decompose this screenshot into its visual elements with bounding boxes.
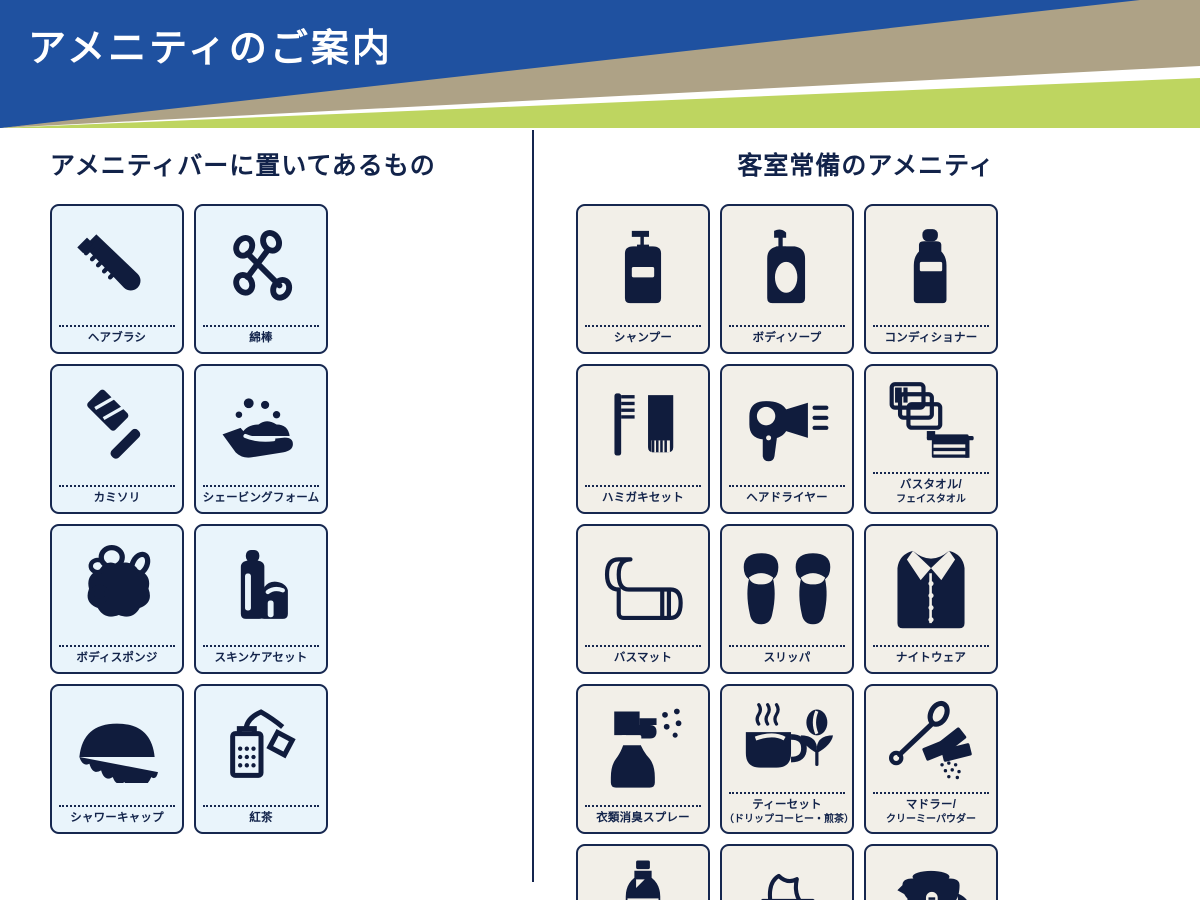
amenity-card-label: カミソリ xyxy=(52,487,182,512)
header-banner: アメニティのご案内 xyxy=(0,0,1200,128)
amenity-card: ヘアブラシ xyxy=(50,204,184,354)
amenity-card: シェービングフォーム xyxy=(194,364,328,514)
amenity-card: ティッシュ xyxy=(720,844,854,900)
page-title: アメニティのご案内 xyxy=(28,26,393,74)
amenity-card: マドラー/クリーミーパウダー xyxy=(864,684,998,834)
skincare-set-icon xyxy=(196,526,326,645)
electric-kettle-icon xyxy=(866,846,996,900)
in-room-amenity-panel: 客室常備のアメニティ シャンプー ボディソープ コンディショナー ハミガキセット… xyxy=(556,146,1176,900)
amenity-card: スリッパ xyxy=(720,524,854,674)
conditioner-bottle-icon xyxy=(866,206,996,325)
amenity-card: 電気式湯沸し器 xyxy=(864,844,998,900)
towels-icon xyxy=(866,366,996,472)
body-soap-bottle-icon xyxy=(722,206,852,325)
amenity-card-label: ボディスポンジ xyxy=(52,647,182,672)
tea-coffee-set-icon xyxy=(722,686,852,792)
amenity-guide-page: アメニティのご案内 アメニティバーに置いてあるもの ヘアブラシ 綿棒 カミソリ … xyxy=(0,0,1200,900)
amenity-card: シャンプー xyxy=(576,204,710,354)
amenity-card: 紅茶 xyxy=(194,684,328,834)
amenity-card-label: ハミガキセット xyxy=(578,487,708,512)
amenity-card-label: コンディショナー xyxy=(866,327,996,352)
amenity-card: バスマット xyxy=(576,524,710,674)
razor-icon xyxy=(52,366,182,485)
amenity-card: ナイトウェア xyxy=(864,524,998,674)
amenity-bar-heading: アメニティバーに置いてあるもの xyxy=(26,146,516,182)
amenity-card: コンディショナー xyxy=(864,204,998,354)
amenity-card: 綿棒 xyxy=(194,204,328,354)
toothbrush-paste-icon xyxy=(578,366,708,485)
bath-mat-icon xyxy=(578,526,708,645)
shaving-foam-icon xyxy=(196,366,326,485)
tea-bag-icon xyxy=(196,686,326,805)
amenity-card-label: バスタオル/フェイスタオル xyxy=(866,474,996,512)
amenity-card: バスタオル/フェイスタオル xyxy=(864,364,998,514)
amenity-bar-grid: ヘアブラシ 綿棒 カミソリ シェービングフォーム ボディスポンジ スキンケアセッ… xyxy=(26,204,464,834)
in-room-amenity-heading: 客室常備のアメニティ xyxy=(556,146,1176,182)
amenity-card: 衣類消臭スプレー xyxy=(576,684,710,834)
amenity-card-label: シェービングフォーム xyxy=(196,487,326,512)
slippers-icon xyxy=(722,526,852,645)
body-sponge-icon xyxy=(52,526,182,645)
amenity-card-label: 衣類消臭スプレー xyxy=(578,807,708,832)
amenity-card-sublabel: （ドリップコーヒー・煎茶） xyxy=(724,813,850,826)
amenity-card-label: スリッパ xyxy=(722,647,852,672)
amenity-bar-panel: アメニティバーに置いてあるもの ヘアブラシ 綿棒 カミソリ シェービングフォーム xyxy=(26,146,516,834)
amenity-card-label: スキンケアセット xyxy=(196,647,326,672)
amenity-card-label: ティーセット（ドリップコーヒー・煎茶） xyxy=(722,794,852,832)
amenity-card-label: バスマット xyxy=(578,647,708,672)
panel-divider xyxy=(532,130,534,882)
amenity-card: ボディソープ xyxy=(720,204,854,354)
amenity-card-label: 綿棒 xyxy=(196,327,326,352)
fabric-spray-icon xyxy=(578,686,708,805)
hair-dryer-icon xyxy=(722,366,852,485)
amenity-card: カミソリ xyxy=(50,364,184,514)
amenity-card-sublabel: フェイスタオル xyxy=(868,493,994,506)
amenity-card: シャワーキャップ xyxy=(50,684,184,834)
amenity-card-label: ヘアブラシ xyxy=(52,327,182,352)
amenity-card: ハミガキセット xyxy=(576,364,710,514)
amenity-card-label: マドラー/クリーミーパウダー xyxy=(866,794,996,832)
amenity-card: ボディスポンジ xyxy=(50,524,184,674)
amenity-card-label: ナイトウェア xyxy=(866,647,996,672)
amenity-card-label: シャンプー xyxy=(578,327,708,352)
amenity-card-label: シャワーキャップ xyxy=(52,807,182,832)
amenity-card-label: ヘアドライヤー xyxy=(722,487,852,512)
stirrer-creamer-icon xyxy=(866,686,996,792)
amenity-card: ミネラルウォーター（1人1本） xyxy=(576,844,710,900)
amenity-card: スキンケアセット xyxy=(194,524,328,674)
amenity-card-label: ボディソープ xyxy=(722,327,852,352)
amenity-card-sublabel: クリーミーパウダー xyxy=(868,813,994,826)
shampoo-bottle-icon xyxy=(578,206,708,325)
shower-cap-icon xyxy=(52,686,182,805)
amenity-card-label: 紅茶 xyxy=(196,807,326,832)
hairbrush-icon xyxy=(52,206,182,325)
water-bottle-icon xyxy=(578,846,708,900)
cotton-swab-icon xyxy=(196,206,326,325)
nightwear-shirt-icon xyxy=(866,526,996,645)
amenity-card: ヘアドライヤー xyxy=(720,364,854,514)
in-room-amenity-grid: シャンプー ボディソープ コンディショナー ハミガキセット ヘアドライヤー xyxy=(556,204,1140,900)
amenity-card: ティーセット（ドリップコーヒー・煎茶） xyxy=(720,684,854,834)
tissue-box-icon xyxy=(722,846,852,900)
